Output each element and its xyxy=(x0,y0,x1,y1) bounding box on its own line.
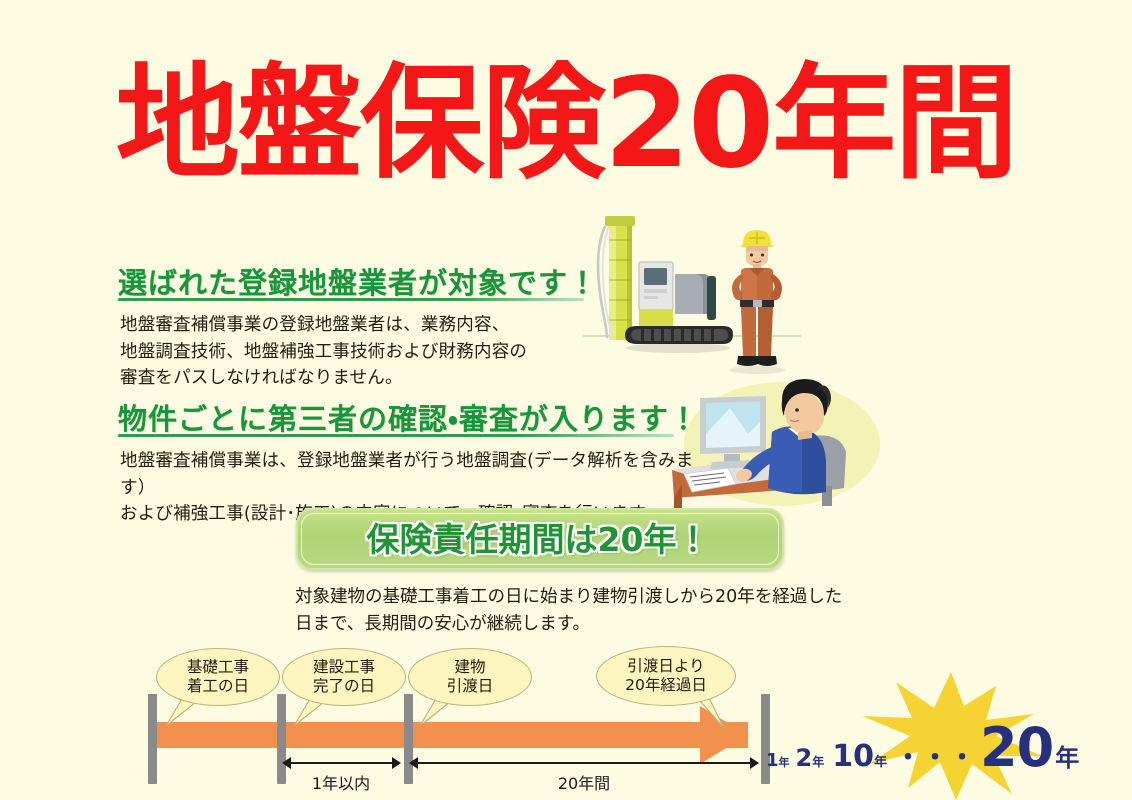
year-2-suffix: 年 xyxy=(812,753,824,770)
ellipsis-dots: ・・・ xyxy=(895,737,976,774)
section-2-heading: 物件ごとに第三者の確認・審査が入ります！ xyxy=(118,396,699,438)
insurance-period-banner-label: 保険責任期間は20年！ xyxy=(296,508,780,566)
year-20-value: 20 xyxy=(980,716,1053,779)
span-1-line xyxy=(289,762,393,764)
timeline-milestone-bubble-1: 基礎工事 着工の日 xyxy=(156,648,280,706)
year-1-value: 1 xyxy=(766,750,779,771)
timeline-milestone-bubble-4: 引渡日より 20年経過日 xyxy=(596,646,736,706)
span-2-label: 20年間 xyxy=(417,770,751,794)
poster-canvas: 地盤保険20年間 xyxy=(0,0,1132,800)
timeline-marker-1 xyxy=(148,694,157,784)
year-progression: 1 年 2 年 10 年 ・・・ 20 年 xyxy=(766,716,1079,779)
span-2-line xyxy=(417,762,751,764)
year-10-value: 10 xyxy=(832,739,874,774)
section-1-heading: 選ばれた登録地盤業者が対象です！ xyxy=(118,260,598,302)
timeline-marker-3 xyxy=(404,694,413,784)
year-2-value: 2 xyxy=(796,744,813,772)
section-2-divider xyxy=(118,434,674,437)
insurance-period-caption: 対象建物の基礎工事着工の日に始まり建物引渡しから20年を経過した 日まで、長期間… xyxy=(295,584,935,638)
section-1-divider xyxy=(118,298,584,301)
span-2-arrow-left xyxy=(409,757,418,769)
year-20-suffix: 年 xyxy=(1055,738,1079,773)
span-1-arrow-left xyxy=(282,757,291,769)
timeline-milestone-bubble-3: 建物 引渡日 xyxy=(408,648,532,706)
timeline-milestone-bubble-2: 建設工事 完了の日 xyxy=(282,648,406,706)
span-1-arrow-right xyxy=(392,757,401,769)
span-1-label: 1年以内 xyxy=(289,770,393,794)
timeline-marker-2 xyxy=(277,694,286,784)
year-10-suffix: 年 xyxy=(874,751,887,770)
section-1-body: 地盤審査補償事業の登録地盤業者は、業務内容、 地盤調査技術、地盤補強工事技術およ… xyxy=(120,312,640,392)
year-1-suffix: 年 xyxy=(779,754,790,770)
span-2-arrow-right xyxy=(750,757,759,769)
page-title: 地盤保険20年間 xyxy=(0,62,1132,186)
